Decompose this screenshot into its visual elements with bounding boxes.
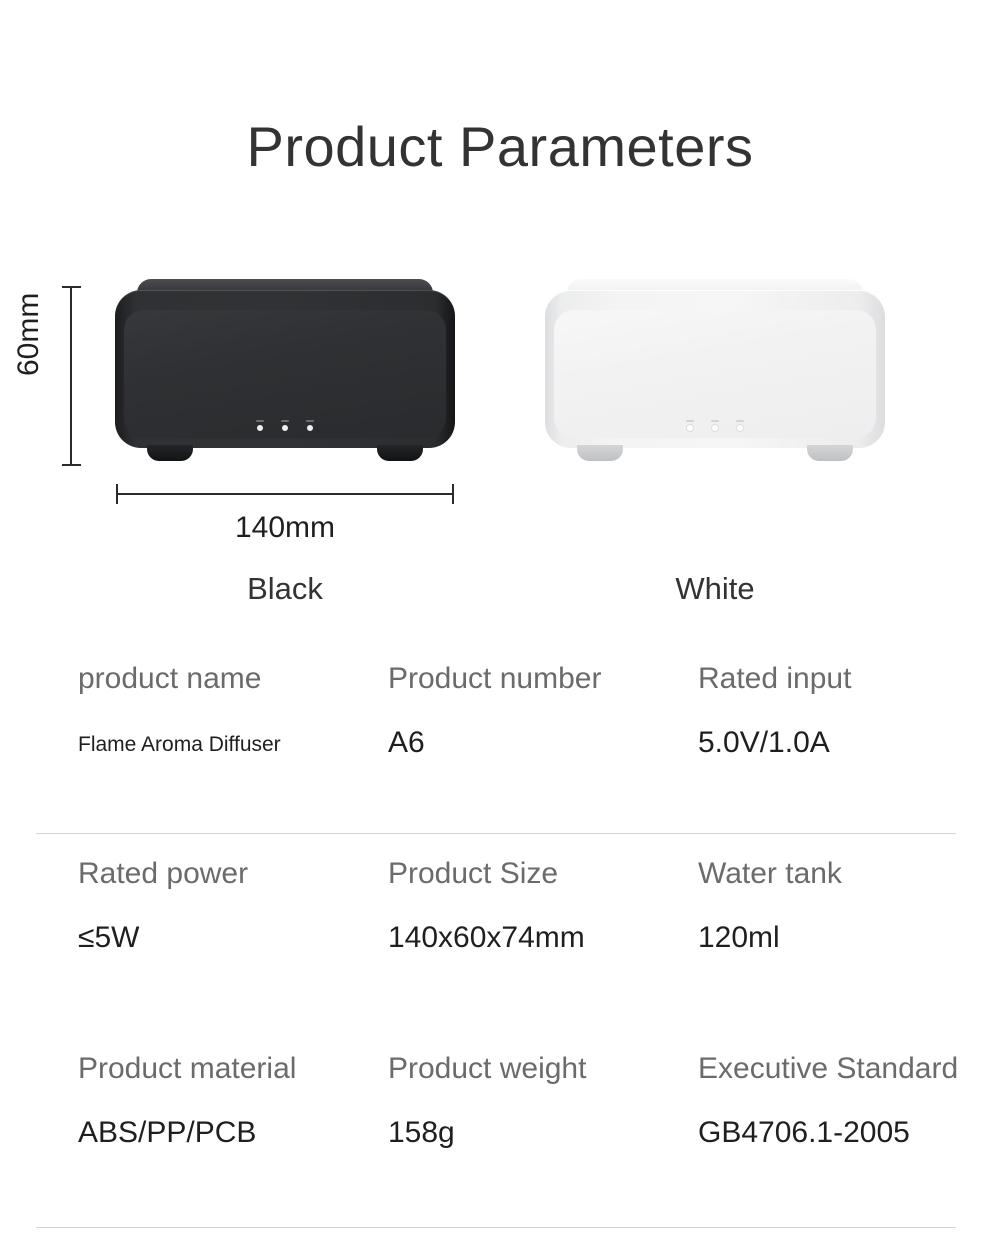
spec-label: Rated input — [698, 660, 998, 698]
spec-label: Executive Standard — [698, 1050, 998, 1088]
spec-label: Product weight — [388, 1050, 688, 1088]
height-dimension-line — [70, 286, 72, 466]
spec-value: 120ml — [698, 919, 998, 957]
height-dimension-label: 60mm — [14, 293, 44, 376]
device-button-3-indicator — [307, 425, 313, 431]
spec-cell-product-weight: Product weight 158g — [388, 1050, 688, 1152]
device-foot-right — [377, 445, 423, 461]
spec-value: Flame Aroma Diffuser — [78, 726, 378, 764]
spec-cell-product-size: Product Size 140x60x74mm — [388, 855, 688, 957]
device-foot-left — [147, 445, 193, 461]
spec-row: Rated power ≤5W Product Size 140x60x74mm… — [0, 855, 1000, 1050]
spec-value: GB4706.1-2005 — [698, 1114, 998, 1152]
variant-caption-white: White — [545, 570, 885, 608]
product-showcase: 60mm — [0, 255, 1000, 615]
row-divider — [36, 833, 956, 834]
spec-value: ABS/PP/PCB — [78, 1114, 378, 1152]
spec-label: Rated power — [78, 855, 378, 893]
spec-label: product name — [78, 660, 378, 698]
device-button-3 — [733, 420, 747, 431]
device-body — [545, 290, 885, 448]
variant-caption-black: Black — [115, 570, 455, 608]
device-foot-left — [577, 445, 623, 461]
device-button-3-marking — [306, 420, 314, 422]
device-button-3 — [303, 420, 317, 431]
spec-value: 140x60x74mm — [388, 919, 688, 957]
spec-row: product name Flame Aroma Diffuser Produc… — [0, 660, 1000, 855]
spec-value: A6 — [388, 724, 688, 762]
device-body — [115, 290, 455, 448]
spec-cell-product-material: Product material ABS/PP/PCB — [78, 1050, 378, 1152]
spec-label: Product material — [78, 1050, 378, 1088]
device-button-1-marking — [686, 420, 694, 422]
page-title: Product Parameters — [0, 112, 1000, 182]
device-button-2 — [708, 420, 722, 431]
device-control-panel — [253, 420, 317, 431]
product-image-black — [115, 279, 455, 461]
width-dimension-line — [116, 493, 454, 495]
device-control-panel — [683, 420, 747, 431]
device-button-2-marking — [711, 420, 719, 422]
device-button-1 — [253, 420, 267, 431]
device-button-1-marking — [256, 420, 264, 422]
spec-cell-water-tank: Water tank 120ml — [698, 855, 998, 957]
device-button-2-marking — [281, 420, 289, 422]
spec-cell-rated-power: Rated power ≤5W — [78, 855, 378, 957]
spec-label: Water tank — [698, 855, 998, 893]
spec-value: 158g — [388, 1114, 688, 1152]
device-button-2-indicator — [712, 425, 718, 431]
device-button-1-indicator — [687, 425, 693, 431]
spec-cell-executive-standard: Executive Standard GB4706.1-2005 — [698, 1050, 998, 1152]
device-button-1 — [683, 420, 697, 431]
spec-label: Product number — [388, 660, 688, 698]
device-button-3-marking — [736, 420, 744, 422]
device-front-panel — [554, 310, 876, 438]
spec-cell-rated-input: Rated input 5.0V/1.0A — [698, 660, 998, 762]
device-button-2-indicator — [282, 425, 288, 431]
device-front-panel — [124, 310, 446, 438]
device-button-1-indicator — [257, 425, 263, 431]
device-button-3-indicator — [737, 425, 743, 431]
spec-row: Product material ABS/PP/PCB Product weig… — [0, 1050, 1000, 1245]
spec-label: Product Size — [388, 855, 688, 893]
device-foot-right — [807, 445, 853, 461]
device-button-2 — [278, 420, 292, 431]
specifications-table: product name Flame Aroma Diffuser Produc… — [0, 660, 1000, 1245]
spec-value: ≤5W — [78, 919, 378, 957]
spec-value: 5.0V/1.0A — [698, 724, 998, 762]
spec-cell-product-name: product name Flame Aroma Diffuser — [78, 660, 378, 764]
width-dimension-label: 140mm — [116, 510, 454, 546]
product-image-white — [545, 279, 885, 461]
spec-cell-product-number: Product number A6 — [388, 660, 688, 762]
